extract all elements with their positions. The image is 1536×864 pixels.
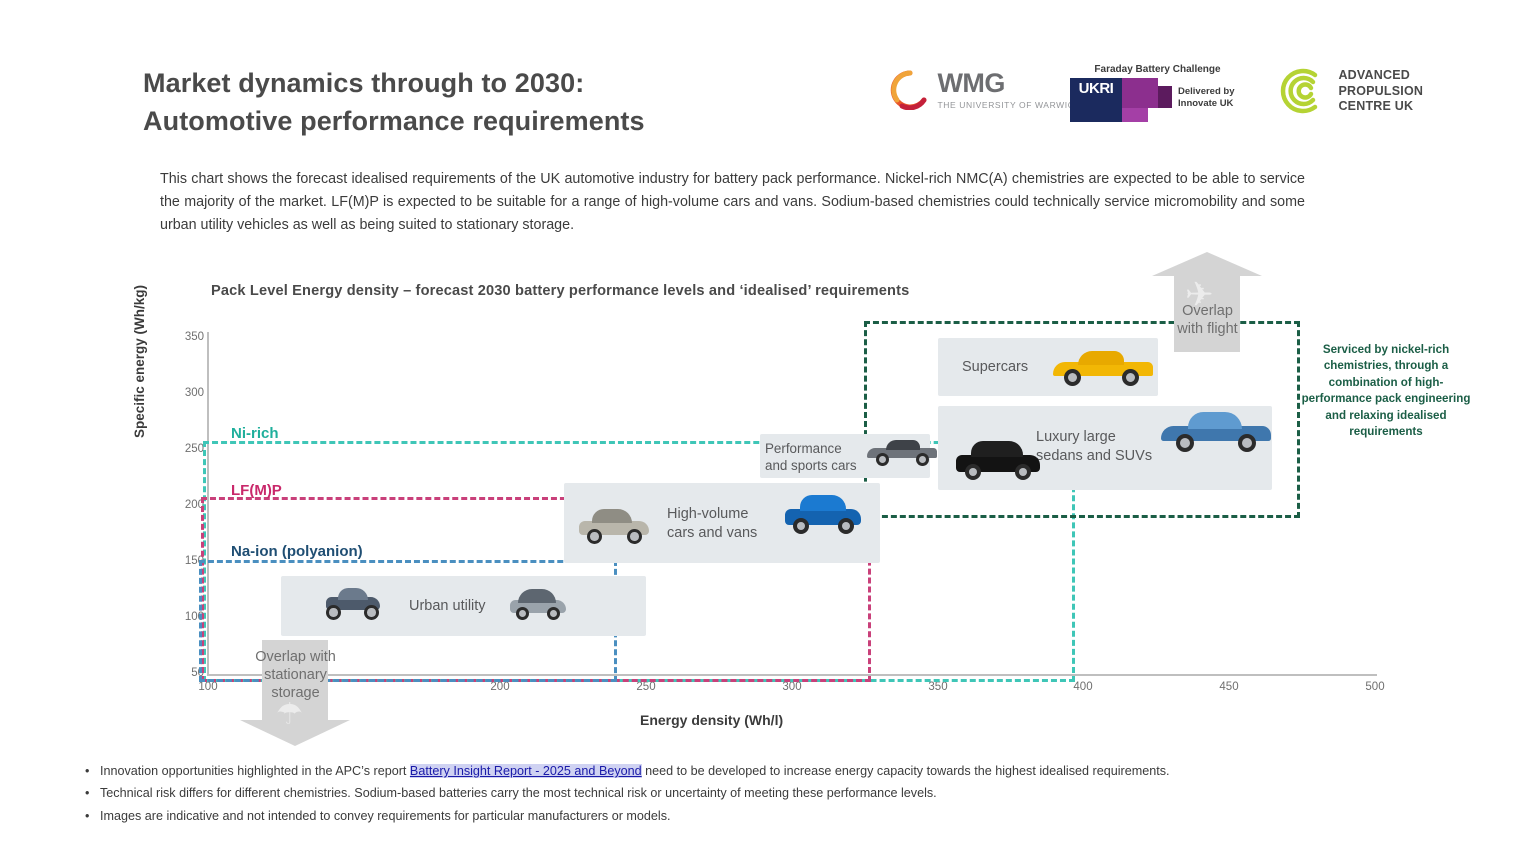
segment-label-high-volume: High-volume cars and vans — [667, 505, 757, 542]
intro-paragraph: This chart shows the forecast idealised … — [160, 168, 1305, 237]
page-title-line2: Automotive performance requirements — [143, 102, 863, 140]
page-title-line1: Market dynamics through to 2030: — [143, 64, 863, 102]
micro-city-car-image — [508, 588, 568, 620]
footnote-2-text: Technical risk differs for different che… — [100, 786, 937, 800]
wmg-logo: WMG THE UNIVERSITY OF WARWICK — [890, 70, 1081, 110]
x-tick-350: 350 — [918, 681, 958, 693]
bullet-icon: • — [85, 760, 89, 782]
page-title: Market dynamics through to 2030: Automot… — [143, 64, 863, 141]
segment-label-luxury: Luxury large sedans and SUVs — [1036, 428, 1152, 465]
y-axis-title: Specific energy (Wh/kg) — [132, 416, 147, 438]
wmg-name: WMG — [937, 70, 1080, 97]
wmg-wordmark: WMG THE UNIVERSITY OF WARWICK — [937, 70, 1080, 110]
bullet-icon: • — [85, 782, 89, 804]
wmg-swirl-icon — [890, 70, 930, 110]
footnote-1-post: need to be developed to increase energy … — [642, 764, 1170, 778]
faraday-title: Faraday Battery Challenge — [1070, 64, 1245, 75]
chem-label-lfmp: LF(M)P — [231, 482, 282, 499]
footnote-1: • Innovation opportunities highlighted i… — [82, 760, 1462, 782]
faraday-delivered-by: Delivered by Innovate UK — [1178, 86, 1235, 110]
x-tick-250: 250 — [626, 681, 666, 693]
overlap-with-flight-label: Overlap with flight — [1160, 302, 1255, 338]
ukri-letters: UKRI — [1070, 78, 1122, 122]
footnote-3-text: Images are indicative and not intended t… — [100, 809, 671, 823]
segment-label-performance: Performance and sports cars — [765, 440, 857, 474]
stationary-storage-icon: ☂ — [276, 700, 303, 730]
quad-bike-image — [322, 586, 384, 620]
blue-suv-image — [784, 492, 862, 534]
footnote-3: • Images are indicative and not intended… — [82, 805, 1462, 827]
segment-label-supercars: Supercars — [962, 358, 1028, 377]
x-tick-100: 100 — [188, 681, 228, 693]
y-tick-200: 200 — [168, 499, 204, 511]
battery-insight-report-link[interactable]: Battery Insight Report - 2025 and Beyond — [410, 764, 642, 778]
footnotes: • Innovation opportunities highlighted i… — [82, 760, 1462, 827]
silver-sports-car-image — [866, 435, 938, 465]
x-tick-300: 300 — [772, 681, 812, 693]
x-tick-200: 200 — [480, 681, 520, 693]
black-suv-image — [955, 438, 1041, 480]
y-tick-300: 300 — [168, 387, 204, 399]
x-axis-title: Energy density (Wh/l) — [640, 712, 783, 728]
blue-sedan-image — [1160, 406, 1272, 452]
apc-spiral-icon — [1280, 68, 1326, 114]
hatchback-image — [578, 505, 650, 543]
yellow-supercar-image — [1052, 344, 1154, 386]
x-tick-450: 450 — [1209, 681, 1249, 693]
x-tick-400: 400 — [1063, 681, 1103, 693]
overlap-with-storage-label: Overlap with stationary storage — [248, 648, 343, 702]
ukri-blocks-icon: UKRI Delivered by Innovate UK — [1070, 78, 1245, 122]
chem-label-ni-rich: Ni-rich — [231, 425, 279, 442]
x-tick-500: 500 — [1355, 681, 1395, 693]
idealised-requirement-note: Serviced by nickel-rich chemistries, thr… — [1296, 342, 1476, 441]
chart-title: Pack Level Energy density – forecast 203… — [211, 283, 909, 299]
footnote-1-pre: Innovation opportunities highlighted in … — [100, 764, 410, 778]
bullet-icon: • — [85, 805, 89, 827]
chem-label-na-ion: Na-ion (polyanion) — [231, 543, 363, 560]
y-tick-250: 250 — [168, 443, 204, 455]
segment-label-urban-utility: Urban utility — [409, 597, 486, 616]
wmg-subtitle: THE UNIVERSITY OF WARWICK — [937, 101, 1080, 110]
footnote-2: • Technical risk differs for different c… — [82, 782, 1462, 804]
y-tick-350: 350 — [168, 331, 204, 343]
apc-logo: ADVANCED PROPULSION CENTRE UK — [1280, 68, 1423, 115]
faraday-battery-challenge-logo: Faraday Battery Challenge UKRI Delivered… — [1070, 64, 1245, 122]
apc-wordmark: ADVANCED PROPULSION CENTRE UK — [1338, 68, 1423, 115]
logo-row: WMG THE UNIVERSITY OF WARWICK Faraday Ba… — [880, 58, 1500, 138]
